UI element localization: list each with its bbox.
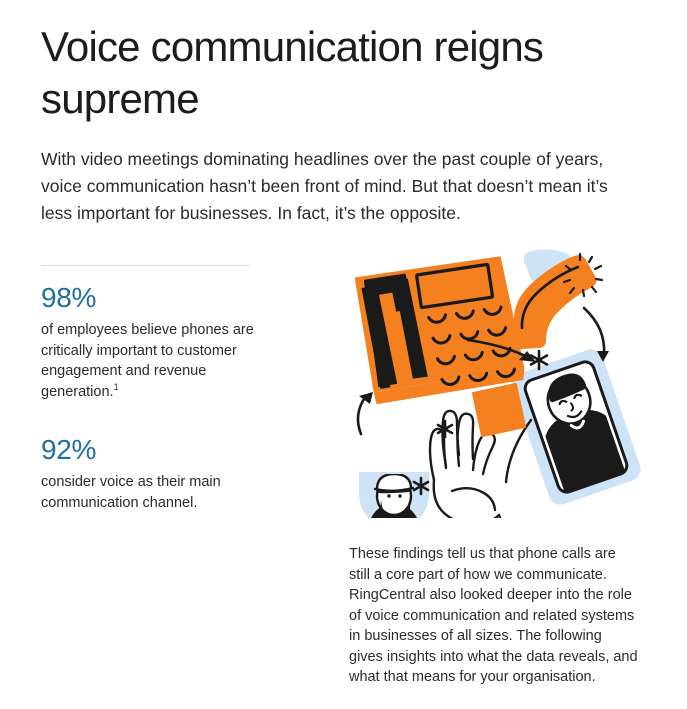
stat-block-92: 92% consider voice as their main communi… [41,434,256,513]
handset-icon [514,254,602,349]
section-divider [41,265,249,266]
stat-description: consider voice as their main communicati… [41,472,256,513]
stat-block-98: 98% of employees believe phones are crit… [41,282,256,402]
closing-paragraph: These findings tell us that phone calls … [349,544,639,688]
page-title: Voice communication reigns supreme [41,21,601,125]
orange-square-shape [472,383,527,438]
article-page: Voice communication reigns supreme With … [0,0,687,709]
voice-communication-illustration [344,248,654,518]
stat-value: 92% [41,434,256,466]
mobile-phone-icon [523,359,629,494]
desk-phone-icon [354,255,526,405]
stat-value: 98% [41,282,256,314]
stat-description: of employees believe phones are critical… [41,320,256,402]
arrow-loop-to-phone [358,392,373,434]
intro-paragraph: With video meetings dominating headlines… [41,146,617,227]
stat-footnote-marker: 1 [114,382,119,392]
stat-description-text: of employees believe phones are critical… [41,322,254,400]
